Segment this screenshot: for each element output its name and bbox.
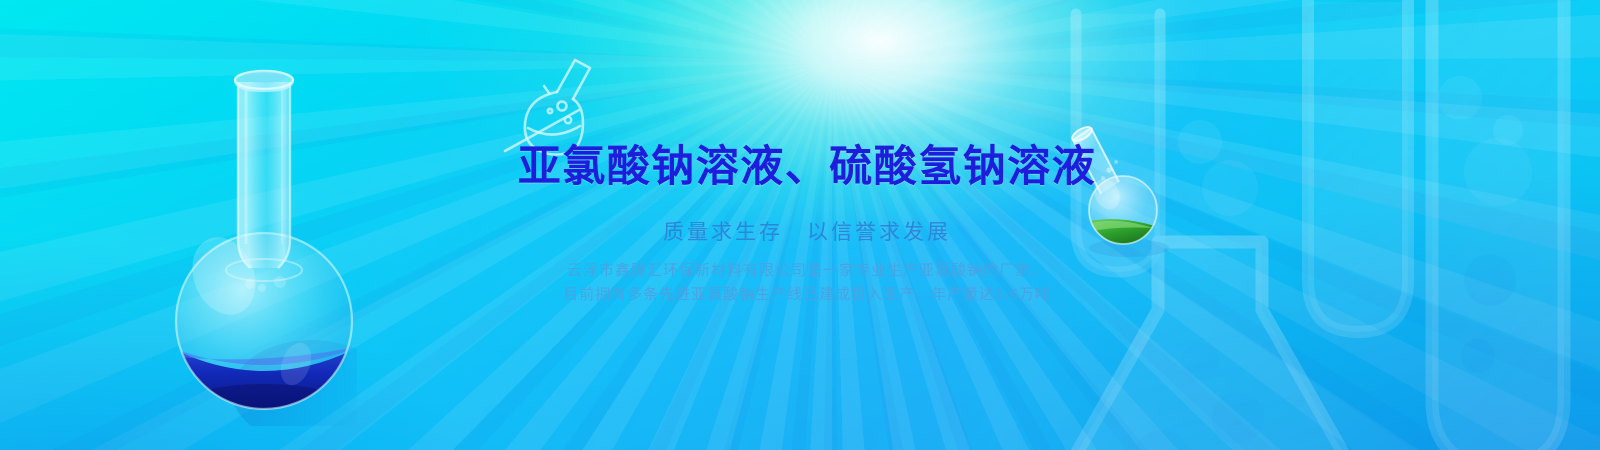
promo-banner: 亚氯酸钠溶液、硫酸氢钠溶液 质量求生存 以信誉求发展 云浮市鑫隆汇环保新材料有限… (0, 0, 1600, 450)
banner-description: 云浮市鑫隆汇环保新材料有限公司是一家专业生产亚氯酸钠的厂家， 目前拥有多条先进亚… (0, 243, 1600, 308)
banner-slogan: 质量求生存 以信誉求发展 (0, 189, 1600, 243)
description-line-1: 云浮市鑫隆汇环保新材料有限公司是一家专业生产亚氯酸钠的厂家， (14, 259, 1600, 283)
banner-text-block: 亚氯酸钠溶液、硫酸氢钠溶液 质量求生存 以信誉求发展 云浮市鑫隆汇环保新材料有限… (0, 146, 1600, 308)
line-art-flask-icon (487, 48, 612, 158)
page-title: 亚氯酸钠溶液、硫酸氢钠溶液 (0, 146, 1600, 189)
description-line-2: 目前拥有多条先进亚氯酸钠生产线已建成投入生产，年产量达3.6万吨 (14, 283, 1600, 307)
